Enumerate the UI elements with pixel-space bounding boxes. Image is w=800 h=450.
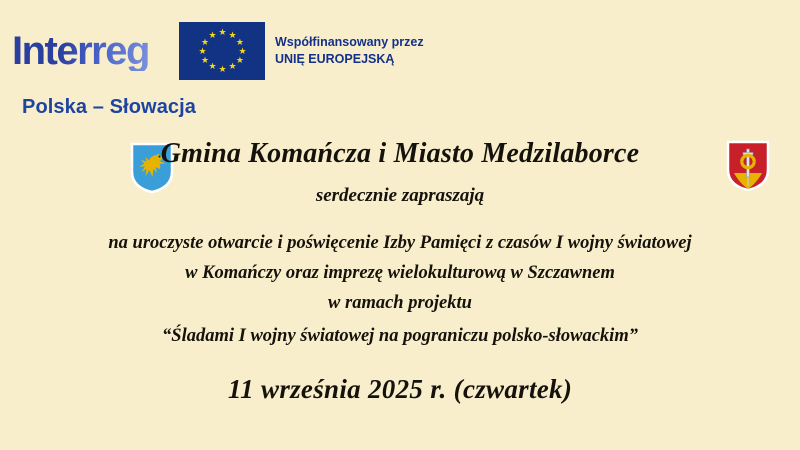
event-invitation-poster: Interreg ★ ★ ★ ★ ★ ★ ★ ★ ★ ★ ★ ★ Ws	[0, 0, 800, 450]
invitation-subhead: serdecznie zapraszają	[0, 185, 800, 207]
event-date: 11 września 2025 r. (czwartek)	[0, 374, 800, 405]
project-title: “Śladami I wojny światowej na pograniczu…	[0, 318, 800, 351]
body-line: na uroczyste otwarcie i poświęcenie Izby…	[0, 228, 800, 258]
interreg-logo: Interreg	[12, 31, 153, 71]
eu-emblem-group: ★ ★ ★ ★ ★ ★ ★ ★ ★ ★ ★ ★ Współfinansowany…	[179, 22, 424, 80]
invitation-body: na uroczyste otwarcie i poświęcenie Izby…	[0, 228, 800, 351]
page-title: Gmina Komańcza i Miasto Medzilaborce	[0, 138, 800, 170]
body-line: w Komańczy oraz imprezę wielokulturową w…	[0, 258, 800, 288]
eu-funding-line-2: UNIĘ EUROPEJSKĄ	[275, 51, 424, 68]
eu-funding-line-1: Współfinansowany przez	[275, 34, 424, 51]
body-line: w ramach projektu	[0, 288, 800, 318]
brand-row: Interreg ★ ★ ★ ★ ★ ★ ★ ★ ★ ★ ★ ★ Ws	[12, 22, 492, 80]
european-union-flag-icon: ★ ★ ★ ★ ★ ★ ★ ★ ★ ★ ★ ★	[179, 22, 265, 80]
funding-header: Interreg ★ ★ ★ ★ ★ ★ ★ ★ ★ ★ ★ ★ Ws	[12, 22, 492, 119]
eu-funding-text: Współfinansowany przez UNIĘ EUROPEJSKĄ	[275, 34, 424, 68]
programme-partners-label: Polska – Słowacja	[22, 96, 492, 119]
